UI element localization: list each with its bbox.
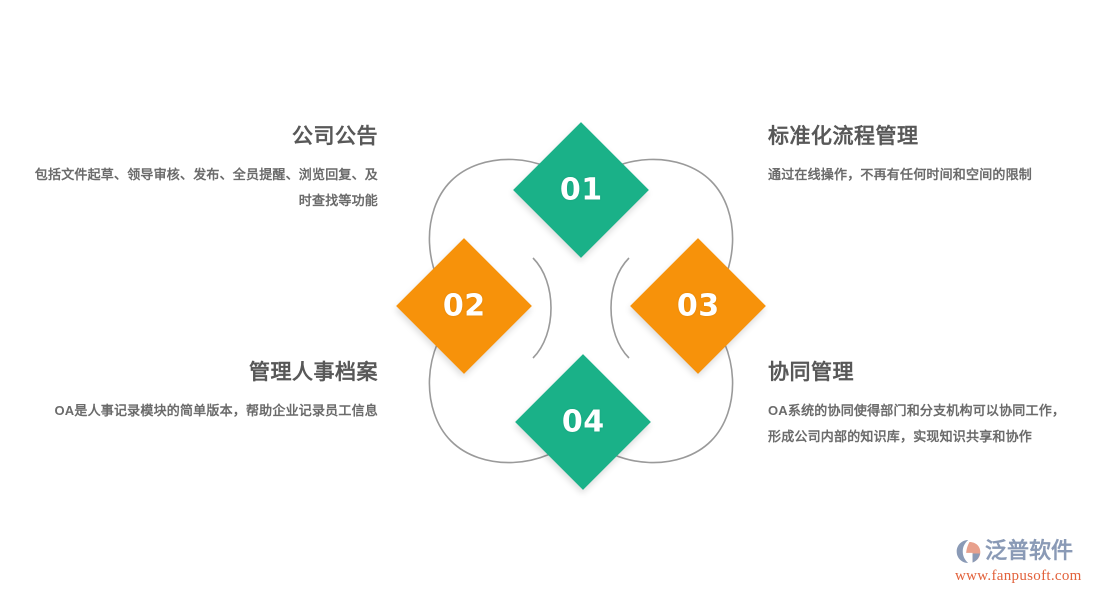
logo-row: 泛普软件 (955, 537, 1085, 565)
clover-inner-arc-right (611, 258, 629, 358)
diamond-diagram: 01 02 03 04 (381, 106, 781, 506)
text-block-top-right: 标准化流程管理 通过在线操作，不再有任何时间和空间的限制 (768, 124, 1068, 188)
diamond-number-01: 01 (560, 175, 603, 205)
logo-website-url: www.fanpusoft.com (955, 569, 1085, 584)
text-block-bottom-left: 管理人事档案 OA是人事记录模块的简单版本，帮助企业记录员工信息 (20, 360, 378, 424)
diamond-number-03: 03 (677, 291, 720, 321)
logo-company-name: 泛普软件 (985, 540, 1073, 562)
clover-inner-arc-left (533, 258, 551, 358)
diamond-number-04: 04 (562, 407, 605, 437)
diamond-number-02: 02 (443, 291, 486, 321)
block-body-company-announcement: 包括文件起草、领导审核、发布、全员提醒、浏览回复、及时查找等功能 (30, 162, 378, 213)
fanpu-swoosh-icon (955, 538, 982, 565)
block-body-hr-archive: OA是人事记录模块的简单版本，帮助企业记录员工信息 (20, 398, 378, 423)
block-body-collaboration: OA系统的协同使得部门和分支机构可以协同工作，形成公司内部的知识库，实现知识共享… (768, 398, 1068, 449)
infographic-page: 01 02 03 04 公司公告 包括文件起草、领导审核、发布、全员提醒、浏览回… (0, 0, 1098, 593)
block-title-hr-archive: 管理人事档案 (20, 360, 378, 386)
block-title-company-announcement: 公司公告 (30, 124, 378, 150)
block-title-standardized-process: 标准化流程管理 (768, 124, 1068, 150)
brand-logo: 泛普软件 www.fanpusoft.com (955, 537, 1085, 583)
block-title-collaboration: 协同管理 (768, 360, 1068, 386)
text-block-bottom-right: 协同管理 OA系统的协同使得部门和分支机构可以协同工作，形成公司内部的知识库，实… (768, 360, 1068, 449)
block-body-standardized-process: 通过在线操作，不再有任何时间和空间的限制 (768, 162, 1068, 187)
text-block-top-left: 公司公告 包括文件起草、领导审核、发布、全员提醒、浏览回复、及时查找等功能 (30, 124, 378, 213)
